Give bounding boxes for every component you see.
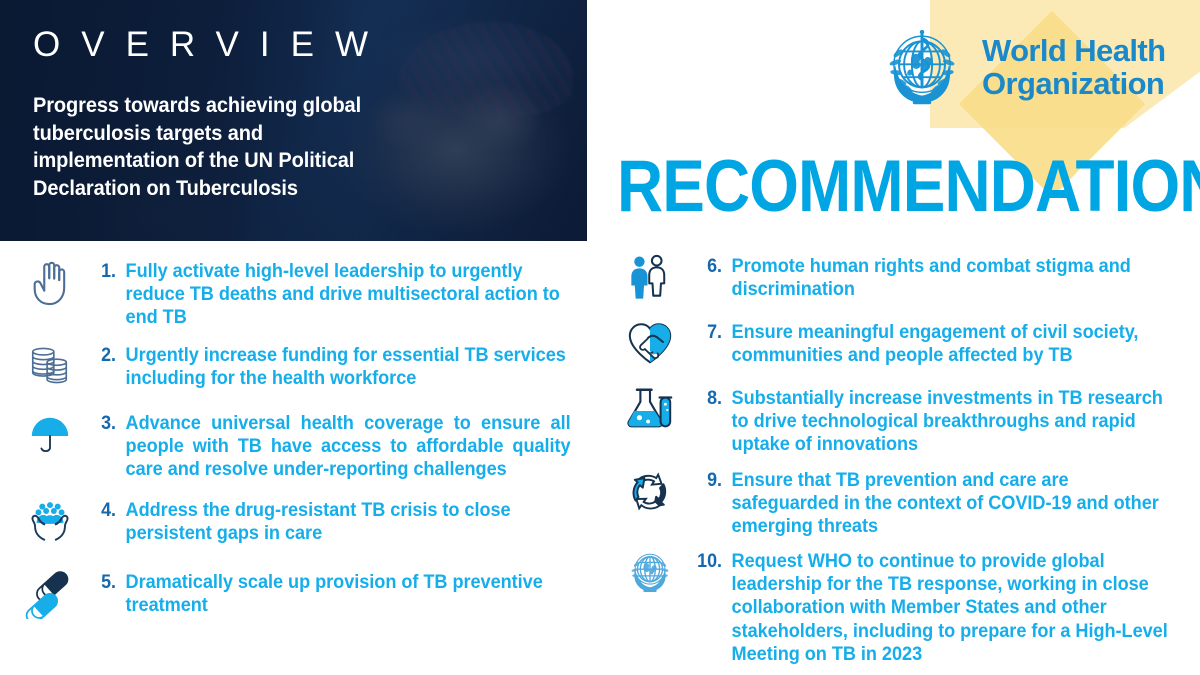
recommendation-text: Promote human rights and combat stigma a… <box>722 253 1171 301</box>
recommendation-text: Urgently increase funding for essential … <box>116 342 571 390</box>
recommendation-item-9: 9. Ensure that TB prevention and care ar… <box>622 467 1192 539</box>
cycle-arrows-icon <box>622 467 678 523</box>
umbrella-icon <box>22 410 78 466</box>
capsules-icon <box>22 569 78 625</box>
recommendation-item-5: 5. Dramatically scale up provision of TB… <box>22 569 592 625</box>
recommendation-number: 9. <box>684 467 722 492</box>
recommendation-number: 4. <box>84 497 116 522</box>
recommendation-text: Substantially increase investments in TB… <box>722 385 1171 457</box>
recommendation-item-7: 7. Ensure meaningful engagement of civil… <box>622 319 1192 375</box>
overview-subtitle: Progress towards achieving global tuberc… <box>33 92 405 203</box>
recommendation-text: Ensure meaningful engagement of civil so… <box>722 319 1171 367</box>
overview-kicker: OVERVIEW <box>33 27 389 62</box>
recommendation-number: 2. <box>84 342 116 367</box>
who-emblem-icon <box>876 22 968 114</box>
raised-hand-icon <box>22 258 78 314</box>
recommendation-text: Ensure that TB prevention and care are s… <box>722 467 1171 539</box>
two-people-icon <box>622 253 678 309</box>
coins-stack-icon <box>22 342 78 398</box>
who-wordmark: World Health Organization <box>982 35 1165 101</box>
recommendation-number: 7. <box>684 319 722 344</box>
recommendations-left-column: 1. Fully activate high-level leadership … <box>22 258 592 637</box>
heart-handshake-icon <box>622 319 678 375</box>
recommendation-text: Fully activate high-level leadership to … <box>116 258 571 330</box>
recommendation-item-1: 1. Fully activate high-level leadership … <box>22 258 592 330</box>
recommendation-item-4: 4. Address the drug-resistant TB crisis … <box>22 497 592 553</box>
recommendations-right-column: 6. Promote human rights and combat stigm… <box>622 253 1192 675</box>
recommendation-text: Dramatically scale up provision of TB pr… <box>116 569 571 617</box>
recommendation-text: Address the drug-resistant TB crisis to … <box>116 497 571 545</box>
recommendation-number: 8. <box>684 385 722 410</box>
hands-holding-people-icon <box>22 497 78 553</box>
infographic-page: OVERVIEW Progress towards achieving glob… <box>0 0 1200 675</box>
recommendation-item-6: 6. Promote human rights and combat stigm… <box>622 253 1192 309</box>
who-wordmark-line1: World Health <box>982 35 1165 68</box>
recommendation-number: 1. <box>84 258 116 283</box>
who-wordmark-line2: Organization <box>982 68 1165 101</box>
united-nations-emblem-icon <box>622 548 678 604</box>
recommendation-number: 3. <box>84 410 116 435</box>
recommendation-text: Request WHO to continue to provide globa… <box>722 548 1171 666</box>
recommendation-item-3: 3. Advance universal health coverage to … <box>22 410 592 482</box>
who-header: World Health Organization <box>600 0 1200 150</box>
recommendations-title: RECOMMENDATIONS <box>617 150 1200 223</box>
recommendation-item-8: 8. Substantially increase investments in… <box>622 385 1192 457</box>
who-logo: World Health Organization <box>876 22 1165 114</box>
recommendation-text: Advance universal health coverage to ens… <box>116 410 571 482</box>
recommendation-number: 6. <box>684 253 722 278</box>
recommendation-item-10: 10. Request WHO to continue to provide g… <box>622 548 1192 666</box>
recommendation-number: 5. <box>84 569 116 594</box>
recommendation-item-2: 2. Urgently increase funding for essenti… <box>22 342 592 398</box>
overview-banner: OVERVIEW Progress towards achieving glob… <box>0 0 587 241</box>
flask-test-tube-icon <box>622 385 678 441</box>
recommendation-number: 10. <box>684 548 722 573</box>
